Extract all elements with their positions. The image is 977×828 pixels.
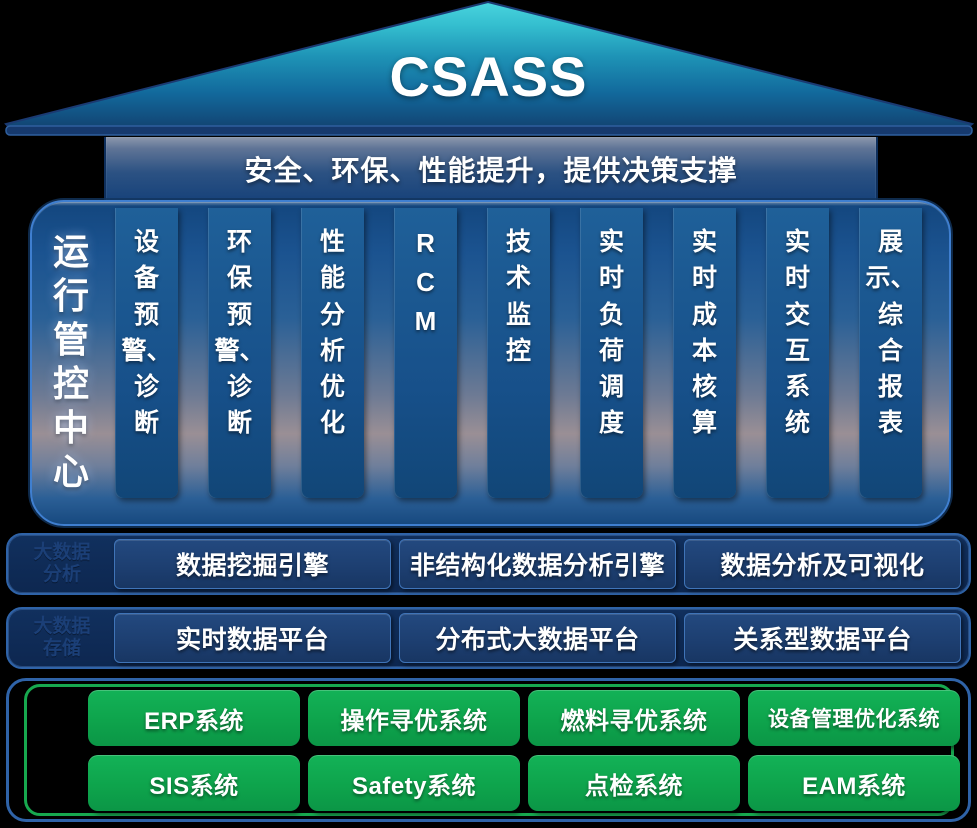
pillar-char: 互	[785, 333, 810, 369]
pillar-char: 技	[506, 224, 531, 260]
data-mining-engine-cell[interactable]: 数据挖掘引擎	[114, 539, 391, 589]
relational-data-platform-cell[interactable]: 关系型数据平台	[684, 613, 961, 663]
label-line: 大数据	[33, 616, 90, 638]
pillar-char: 保	[227, 260, 252, 296]
system-eam[interactable]: EAM系统	[748, 755, 960, 811]
pillar-display-comprehensive-report[interactable]: 展 示、 综 合 报 表	[859, 208, 922, 498]
pillar-char: 成	[692, 297, 717, 333]
pillar-char: 核	[692, 369, 717, 405]
pillar-char: 警、	[214, 333, 264, 369]
center-label-char: 控	[53, 362, 89, 406]
system-equipment-management-optimization[interactable]: 设备管理优化系统	[748, 690, 960, 746]
pillar-char: 系	[785, 369, 810, 405]
label-line: 分析	[43, 564, 81, 586]
pillar-char: 时	[599, 260, 624, 296]
pillar-char: 本	[692, 333, 717, 369]
system-fuel-optimization[interactable]: 燃料寻优系统	[528, 690, 740, 746]
center-label-char: 心	[53, 450, 89, 494]
pillar-char: 断	[134, 405, 159, 441]
system-sis[interactable]: SIS系统	[88, 755, 300, 811]
pillar-char: M	[415, 302, 437, 341]
pillar-char: 预	[227, 297, 252, 333]
pillar-realtime-cost-accounting[interactable]: 实 时 成 本 核 算	[673, 208, 736, 498]
unstructured-data-analysis-engine-cell[interactable]: 非结构化数据分析引擎	[399, 539, 676, 589]
pillar-char: 备	[134, 260, 159, 296]
center-label-char: 行	[53, 274, 89, 318]
pillar-char: 预	[134, 297, 159, 333]
system-safety[interactable]: Safety系统	[308, 755, 520, 811]
big-data-storage-label: 大数据 存储	[18, 614, 106, 662]
label-line: 大数据	[33, 542, 90, 564]
pillar-char: 警、	[121, 333, 171, 369]
pillar-char: 实	[785, 224, 810, 260]
pillar-char: 荷	[599, 333, 624, 369]
slogan-band: 安全、环保、性能提升，提供决策支撑	[104, 137, 878, 201]
systems-grid: ERP系统 操作寻优系统 燃料寻优系统 设备管理优化系统 SIS系统 Safet…	[88, 690, 960, 811]
pillar-char: 断	[227, 405, 252, 441]
operations-control-center-label: 运 行 管 控 中 心	[38, 216, 104, 506]
pillar-char: R	[416, 224, 435, 263]
pillar-char: 实	[599, 224, 624, 260]
pillar-performance-analysis[interactable]: 性 能 分 析 优 化	[301, 208, 364, 498]
pillar-char: 设	[134, 224, 159, 260]
big-data-storage-cells: 实时数据平台 分布式大数据平台 关系型数据平台	[114, 613, 961, 663]
center-label-char: 管	[53, 318, 89, 362]
pillar-char: 展	[878, 224, 903, 260]
system-operation-optimization[interactable]: 操作寻优系统	[308, 690, 520, 746]
pillar-char: 综	[878, 297, 903, 333]
pillar-char: 度	[599, 405, 624, 441]
pillar-environment-warning[interactable]: 环 保 预 警、 诊 断	[208, 208, 271, 498]
center-label-char: 运	[53, 230, 89, 274]
pillar-char: 诊	[134, 369, 159, 405]
pillar-char: 负	[599, 297, 624, 333]
big-data-analysis-label: 大数据 分析	[18, 540, 106, 588]
pillar-char: 优	[320, 369, 345, 405]
system-erp[interactable]: ERP系统	[88, 690, 300, 746]
pillar-char: 环	[227, 224, 252, 260]
pillar-char: 统	[785, 405, 810, 441]
pillar-realtime-interactive-system[interactable]: 实 时 交 互 系 统	[766, 208, 829, 498]
big-data-analysis-row: 大数据 分析 数据挖掘引擎 非结构化数据分析引擎 数据分析及可视化	[6, 533, 971, 595]
system-inspection[interactable]: 点检系统	[528, 755, 740, 811]
pillar-char: 监	[506, 297, 531, 333]
data-analysis-visualization-cell[interactable]: 数据分析及可视化	[684, 539, 961, 589]
pillar-char: 分	[320, 297, 345, 333]
page-title: CSASS	[0, 44, 977, 109]
pillar-equipment-warning[interactable]: 设 备 预 警、 诊 断	[115, 208, 178, 498]
pillar-char: 合	[878, 333, 903, 369]
pillar-char: 算	[692, 405, 717, 441]
pillar-realtime-load-dispatch[interactable]: 实 时 负 荷 调 度	[580, 208, 643, 498]
pillar-char: 调	[599, 369, 624, 405]
pillar-char: 术	[506, 260, 531, 296]
slogan-text: 安全、环保、性能提升，提供决策支撑	[244, 149, 737, 189]
label-line: 存储	[43, 638, 81, 660]
pillar-char: 控	[506, 333, 531, 369]
pillar-char: 交	[785, 297, 810, 333]
pillar-char: 诊	[227, 369, 252, 405]
pillar-char: 表	[878, 405, 903, 441]
big-data-storage-row: 大数据 存储 实时数据平台 分布式大数据平台 关系型数据平台	[6, 607, 971, 669]
pillar-char: C	[416, 263, 435, 302]
center-label-char: 中	[53, 406, 89, 450]
big-data-analysis-cells: 数据挖掘引擎 非结构化数据分析引擎 数据分析及可视化	[114, 539, 961, 589]
realtime-data-platform-cell[interactable]: 实时数据平台	[114, 613, 391, 663]
pillar-char: 实	[692, 224, 717, 260]
pillar-char: 析	[320, 333, 345, 369]
pillar-rcm[interactable]: R C M	[394, 208, 457, 498]
pillar-char: 报	[878, 369, 903, 405]
pillar-char: 示、	[865, 260, 915, 296]
distributed-big-data-platform-cell[interactable]: 分布式大数据平台	[399, 613, 676, 663]
pillar-char: 性	[320, 224, 345, 260]
architecture-diagram: CSASS 安全、环保、性能提升，提供决策支撑 运 行 管 控 中 心 设 备 …	[0, 0, 977, 828]
pillar-technical-monitoring[interactable]: 技 术 监 控	[487, 208, 550, 498]
pillar-char: 时	[692, 260, 717, 296]
pillar-char: 时	[785, 260, 810, 296]
pillar-char: 化	[320, 405, 345, 441]
roof: CSASS	[0, 0, 977, 140]
pillar-char: 能	[320, 260, 345, 296]
